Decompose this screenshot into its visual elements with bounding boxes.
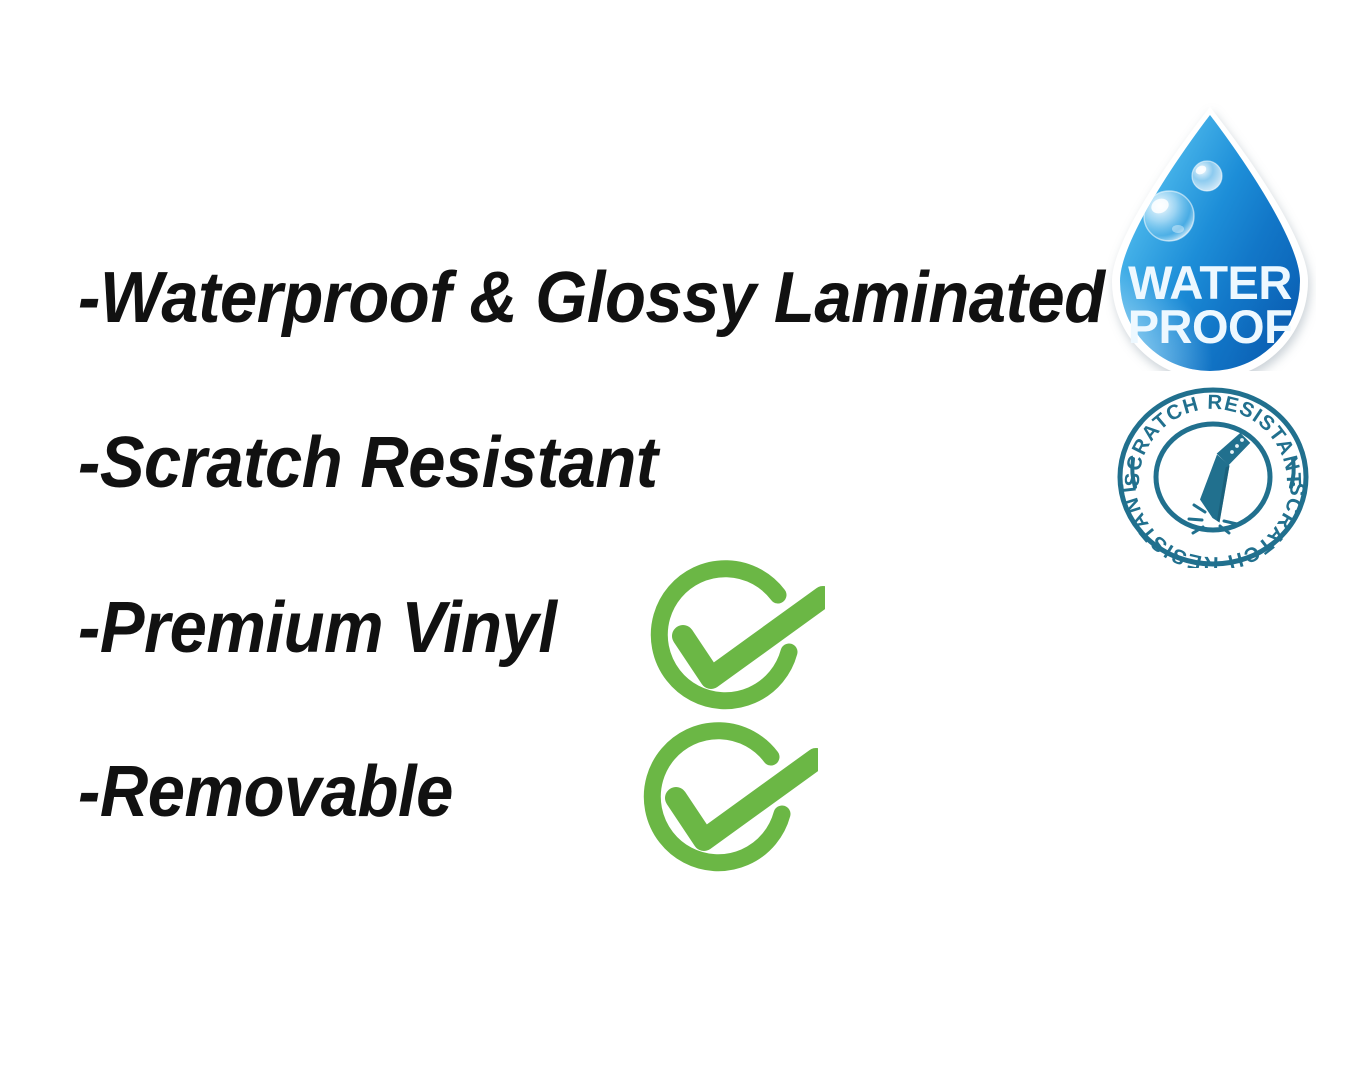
check-tick [676, 759, 816, 840]
feature-list-graphic: -Waterproof & Glossy Laminated -Scratch … [0, 0, 1359, 1080]
check-tick [683, 597, 823, 678]
feature-item-waterproof: -Waterproof & Glossy Laminated [78, 262, 1105, 334]
water-bubble-small [1192, 161, 1222, 191]
feature-item-premium-vinyl: -Premium Vinyl [78, 592, 556, 664]
check-circle-removable [628, 715, 818, 905]
feature-item-scratch-resistant: -Scratch Resistant [78, 427, 658, 499]
scratch-resistant-badge: SCRATCH RESISTANT SCRATCH RESISTANT [1113, 383, 1313, 568]
feature-item-removable: -Removable [78, 756, 453, 828]
knife-icon [1189, 432, 1251, 533]
waterproof-badge: WATER PROOF [1104, 103, 1316, 371]
waterproof-line2: PROOF [1128, 300, 1293, 353]
